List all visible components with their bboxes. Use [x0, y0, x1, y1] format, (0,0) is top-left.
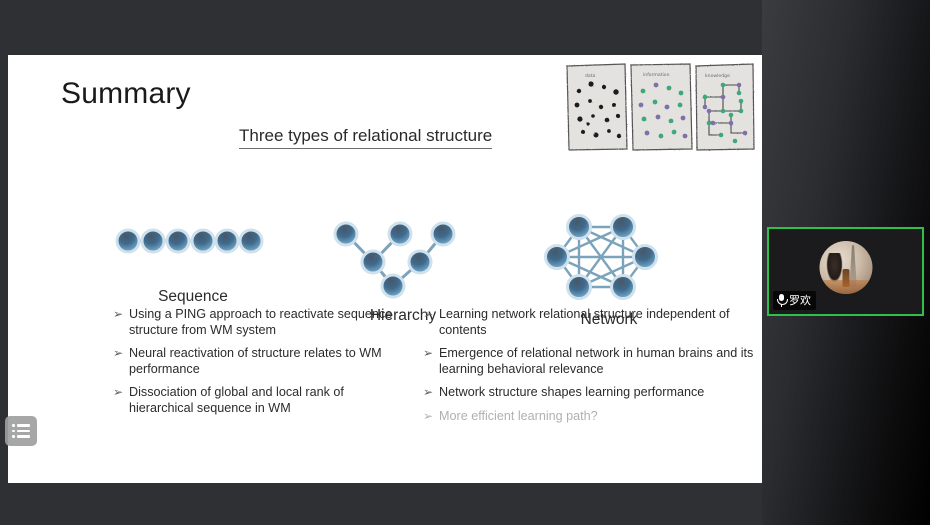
participant-name-badge: 罗欢 [773, 291, 816, 310]
bullet-text: Emergence of relational network in human… [439, 346, 768, 377]
bullet-text: Network structure shapes learning perfor… [439, 385, 704, 401]
bottle-shape [842, 269, 849, 287]
bullet-list-right: ➢ Learning network relational structure … [423, 307, 768, 432]
meeting-window: Summary Three types of relational struct… [0, 0, 930, 525]
bullet-text: Using a PING approach to reactivate sequ… [129, 307, 403, 338]
bullet-arrow-icon: ➢ [423, 409, 432, 425]
sketch-label-data: data [585, 73, 596, 79]
plant-shape [826, 253, 842, 283]
list-item: ➢ Emergence of relational network in hum… [423, 346, 768, 377]
bullet-text: Learning network relational structure in… [439, 307, 768, 338]
bullet-text: More efficient learning path? [439, 409, 598, 425]
list-view-icon [12, 424, 30, 438]
list-item: ➢ Learning network relational structure … [423, 307, 768, 338]
participant-strip: 罗欢 [762, 0, 930, 525]
participant-video-tile[interactable]: 罗欢 [767, 227, 924, 316]
sketch-label-information: information [643, 72, 670, 78]
bullet-arrow-icon: ➢ [423, 307, 432, 338]
data-information-knowledge-sketch: data information knowledge [563, 61, 755, 153]
view-options-button[interactable] [5, 416, 37, 446]
list-item: ➢ Network structure shapes learning perf… [423, 385, 768, 401]
diagram-caption-sequence: Sequence [113, 288, 273, 306]
list-item: ➢ Dissociation of global and local rank … [113, 385, 403, 416]
bullet-arrow-icon: ➢ [113, 307, 122, 338]
bullet-text: Neural reactivation of structure relates… [129, 346, 403, 377]
list-item: ➢ Neural reactivation of structure relat… [113, 346, 403, 377]
bullet-arrow-icon: ➢ [113, 346, 122, 377]
bullet-text: Dissociation of global and local rank of… [129, 385, 403, 416]
participant-name: 罗欢 [789, 295, 811, 306]
bullet-arrow-icon: ➢ [423, 346, 432, 377]
screen-share-stage: Summary Three types of relational struct… [0, 0, 762, 525]
bullet-arrow-icon: ➢ [113, 385, 122, 416]
diagram-sequence: Sequence [113, 225, 273, 306]
avatar [819, 241, 872, 294]
microphone-icon [776, 294, 787, 307]
bullet-arrow-icon: ➢ [423, 385, 432, 401]
sketch-label-knowledge: knowledge [705, 73, 730, 79]
page-title: Summary [61, 77, 191, 111]
slide-subtitle: Three types of relational structure [239, 126, 492, 149]
bullet-list-left: ➢ Using a PING approach to reactivate se… [113, 307, 403, 424]
list-item: ➢ Using a PING approach to reactivate se… [113, 307, 403, 338]
presentation-slide: Summary Three types of relational struct… [8, 55, 762, 483]
list-item: ➢ More efficient learning path? [423, 409, 768, 425]
